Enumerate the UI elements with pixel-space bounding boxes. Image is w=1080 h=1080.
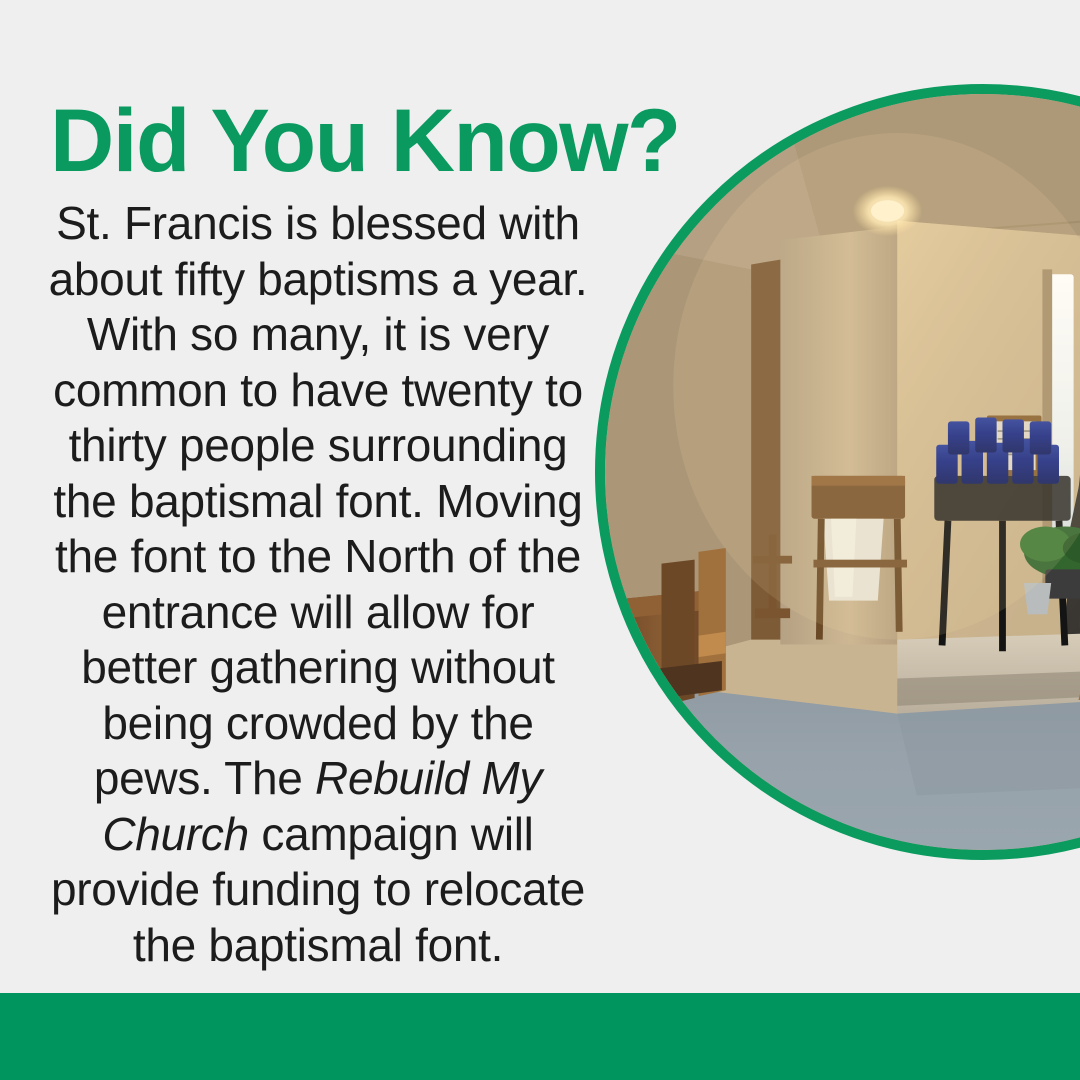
church-interior-illustration (605, 94, 1080, 850)
body-text-part-1: St. Francis is blessed with about fifty … (49, 197, 588, 804)
church-photo-circle (595, 84, 1080, 860)
poster-canvas: Did You Know? St. Francis is blessed wit… (0, 0, 1080, 1080)
bottom-accent-bar (0, 993, 1080, 1080)
page-title: Did You Know? (50, 96, 670, 185)
church-photo (605, 94, 1080, 850)
body-paragraph: St. Francis is blessed with about fifty … (48, 196, 588, 973)
